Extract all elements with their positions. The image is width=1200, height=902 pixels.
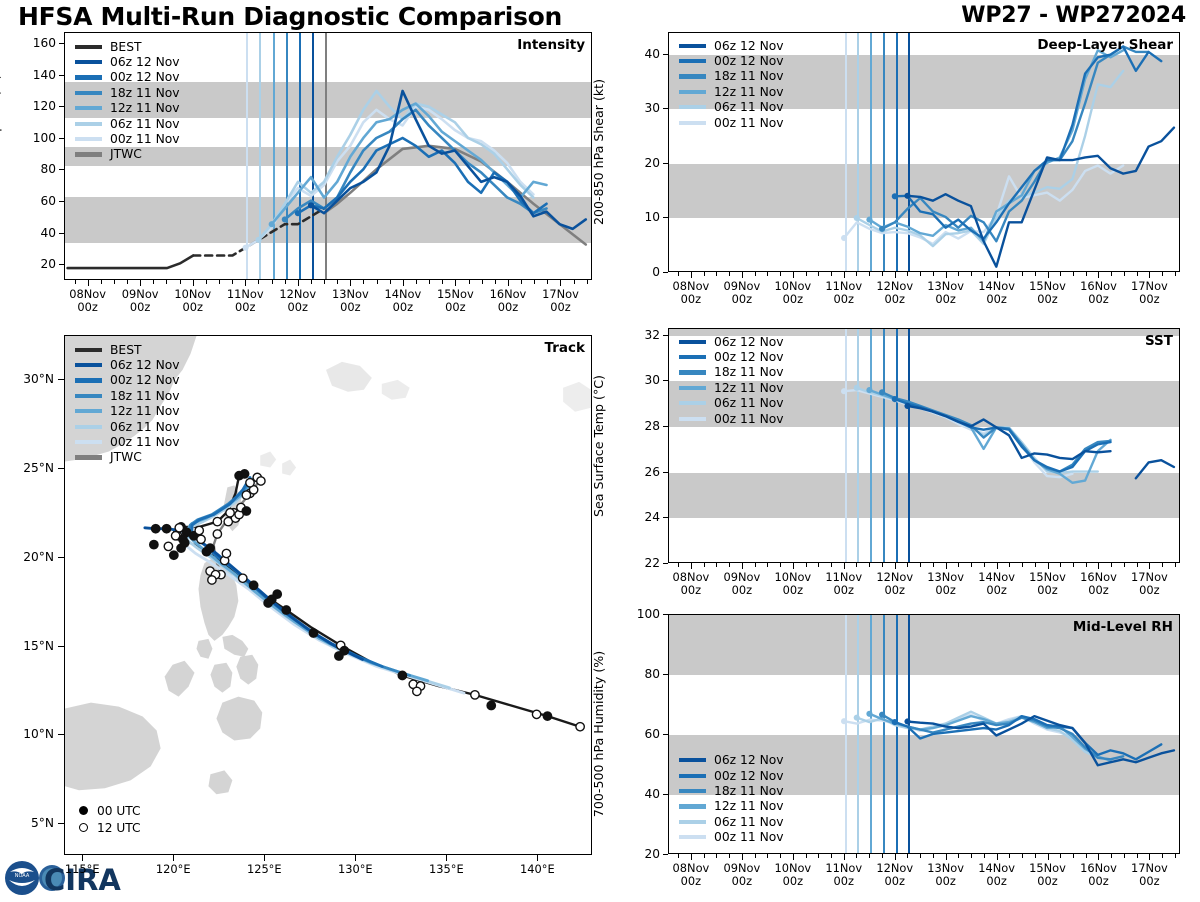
x-tick-label: 09Nov00z bbox=[723, 571, 760, 597]
rh-plot-area: Mid-Level RH 06z 12 Nov00z 12 Nov18z 11 … bbox=[668, 614, 1180, 854]
x-tick bbox=[1098, 854, 1099, 860]
legend-item-00z-11-nov[interactable]: 00z 11 Nov bbox=[75, 434, 180, 449]
track-time-marker bbox=[226, 509, 234, 517]
x-minor-tick bbox=[1124, 854, 1125, 858]
x-tick bbox=[946, 563, 947, 569]
legend-label: 06z 12 Nov bbox=[714, 336, 784, 348]
legend-label: 18z 11 Nov bbox=[110, 87, 180, 99]
y-axis-title: Sea Surface Temp (°C) bbox=[591, 375, 606, 517]
x-minor-tick bbox=[780, 272, 781, 276]
init-point-marker bbox=[841, 718, 847, 724]
x-minor-tick bbox=[1175, 272, 1176, 276]
y-tick-label: 20 bbox=[618, 847, 660, 861]
x-minor-tick bbox=[780, 563, 781, 567]
y-tick bbox=[663, 472, 668, 473]
legend-item-18z-11-nov[interactable]: 18z 11 Nov bbox=[679, 69, 784, 84]
x-tick-label: 14Nov00z bbox=[978, 280, 1015, 306]
legend-swatch-icon bbox=[75, 363, 102, 367]
y-tick bbox=[663, 163, 668, 164]
y-tick bbox=[59, 201, 64, 202]
legend-label: 00z 11 Nov bbox=[714, 413, 784, 425]
track-time-marker bbox=[150, 540, 158, 548]
x-minor-tick bbox=[1175, 854, 1176, 858]
y-tick bbox=[663, 854, 668, 855]
sst-legend: 06z 12 Nov00z 12 Nov18z 11 Nov12z 11 Nov… bbox=[679, 334, 784, 426]
storm-id-title: WP27 - WP272024 bbox=[961, 3, 1186, 28]
x-tick-label: 11Nov00z bbox=[227, 288, 264, 314]
x-minor-tick bbox=[219, 280, 220, 284]
legend-item-18z-11-nov[interactable]: 18z 11 Nov bbox=[75, 85, 180, 100]
svg-text:NOAA: NOAA bbox=[15, 873, 30, 879]
x-minor-tick bbox=[856, 854, 857, 858]
legend-item-18z-11-nov[interactable]: 18z 11 Nov bbox=[679, 783, 784, 798]
legend-swatch-icon bbox=[75, 425, 102, 429]
init-point-marker bbox=[282, 216, 288, 222]
legend-label: 00z 12 Nov bbox=[110, 374, 180, 386]
lat-tick bbox=[58, 646, 64, 647]
track-time-marker bbox=[195, 526, 203, 534]
x-minor-tick bbox=[1060, 563, 1061, 567]
y-tick-label: 60 bbox=[618, 727, 660, 741]
x-minor-tick bbox=[377, 280, 378, 284]
x-minor-tick bbox=[920, 272, 921, 276]
x-minor-tick bbox=[166, 280, 167, 284]
track-line bbox=[185, 479, 450, 688]
track-plot-area: Track BEST06z 12 Nov00z 12 Nov18z 11 Nov… bbox=[64, 335, 592, 855]
x-tick bbox=[997, 563, 998, 569]
x-minor-tick bbox=[818, 272, 819, 276]
legend-swatch-icon bbox=[75, 378, 102, 382]
legend-item-00z-12-nov[interactable]: 00z 12 Nov bbox=[679, 768, 784, 783]
legend-item-12z-11-nov[interactable]: 12z 11 Nov bbox=[75, 101, 180, 116]
y-tick-label: 22 bbox=[618, 556, 660, 570]
x-minor-tick bbox=[806, 563, 807, 567]
x-tick-label: 10Nov00z bbox=[774, 280, 811, 306]
x-tick bbox=[88, 280, 89, 286]
legend-swatch-icon bbox=[75, 348, 102, 352]
x-tick-label: 13Nov00z bbox=[332, 288, 369, 314]
x-minor-tick bbox=[971, 272, 972, 276]
x-minor-tick bbox=[704, 563, 705, 567]
x-tick-label: 13Nov00z bbox=[927, 862, 964, 888]
x-minor-tick bbox=[818, 854, 819, 858]
x-tick-label: 10Nov00z bbox=[774, 571, 811, 597]
init-point-marker bbox=[841, 388, 847, 394]
x-tick bbox=[946, 272, 947, 278]
x-minor-tick bbox=[958, 854, 959, 858]
legend-item-18z-11-nov[interactable]: 18z 11 Nov bbox=[679, 365, 784, 380]
x-minor-tick bbox=[755, 272, 756, 276]
y-tick bbox=[663, 380, 668, 381]
y-tick bbox=[663, 54, 668, 55]
x-tick bbox=[1048, 854, 1049, 860]
sst-panel-label: SST bbox=[1145, 333, 1173, 349]
x-tick bbox=[508, 280, 509, 286]
legend-swatch-icon bbox=[679, 835, 706, 839]
track-time-marker bbox=[264, 599, 272, 607]
x-tick bbox=[844, 854, 845, 860]
legend-swatch-icon bbox=[679, 90, 706, 94]
y-tick-label: 120 bbox=[14, 99, 56, 113]
x-minor-tick bbox=[984, 854, 985, 858]
track-time-marker bbox=[242, 507, 250, 515]
track-time-marker bbox=[162, 525, 170, 533]
legend-item-06z-12-nov[interactable]: 06z 12 Nov bbox=[75, 357, 180, 372]
x-minor-tick bbox=[933, 272, 934, 276]
legend-item-12z-11-nov[interactable]: 12z 11 Nov bbox=[679, 380, 784, 395]
x-tick bbox=[1098, 563, 1099, 569]
y-tick-label: 24 bbox=[618, 510, 660, 524]
legend-item-06z-11-nov[interactable]: 06z 11 Nov bbox=[75, 116, 180, 131]
x-minor-tick bbox=[363, 280, 364, 284]
legend-label: 00z 11 Nov bbox=[714, 831, 784, 843]
x-minor-tick bbox=[704, 272, 705, 276]
legend-swatch-icon bbox=[679, 105, 706, 109]
legend-swatch-icon bbox=[75, 106, 102, 110]
legend-item-06z-11-nov[interactable]: 06z 11 Nov bbox=[75, 419, 180, 434]
legend-item-06z-12-nov[interactable]: 06z 12 Nov bbox=[679, 38, 784, 53]
legend-swatch-icon bbox=[679, 758, 706, 762]
legend-item-06z-11-nov[interactable]: 06z 11 Nov bbox=[679, 814, 784, 829]
x-tick bbox=[140, 280, 141, 286]
x-minor-tick bbox=[337, 280, 338, 284]
legend-item-00z-11-nov[interactable]: 00z 11 Nov bbox=[679, 115, 784, 130]
x-minor-tick bbox=[907, 854, 908, 858]
y-tick bbox=[663, 217, 668, 218]
lat-tick-label: 20°N bbox=[2, 550, 54, 564]
legend-swatch-icon bbox=[75, 60, 102, 64]
x-minor-tick bbox=[324, 280, 325, 284]
open-dot-icon bbox=[79, 823, 88, 832]
y-axis-title: 10m Max Wind Speed (kt) bbox=[0, 74, 2, 238]
legend-label: 06z 11 Nov bbox=[714, 397, 784, 409]
legend-label: 06z 11 Nov bbox=[110, 118, 180, 130]
rh-panel: Mid-Level RH 06z 12 Nov00z 12 Nov18z 11 … bbox=[668, 614, 1180, 854]
x-minor-tick bbox=[678, 563, 679, 567]
x-minor-tick bbox=[1111, 272, 1112, 276]
x-minor-tick bbox=[1137, 563, 1138, 567]
track-time-marker bbox=[576, 723, 584, 731]
legend-label: 06z 11 Nov bbox=[714, 101, 784, 113]
x-minor-tick bbox=[258, 280, 259, 284]
init-point-marker bbox=[904, 193, 910, 199]
x-minor-tick bbox=[574, 280, 575, 284]
x-minor-tick bbox=[1073, 563, 1074, 567]
legend-swatch-icon bbox=[679, 789, 706, 793]
init-point-marker bbox=[854, 715, 860, 721]
legend-label: 00z 12 Nov bbox=[714, 351, 784, 363]
legend-item-12z-11-nov[interactable]: 12z 11 Nov bbox=[679, 799, 784, 814]
x-tick-label: 08Nov00z bbox=[673, 862, 710, 888]
init-point-marker bbox=[866, 387, 872, 393]
legend-swatch-icon bbox=[679, 340, 706, 344]
y-axis-title: 200-850 hPa Shear (kt) bbox=[591, 79, 606, 225]
y-tick-label: 26 bbox=[618, 465, 660, 479]
track-time-marker bbox=[543, 712, 551, 720]
y-tick bbox=[663, 674, 668, 675]
x-tick bbox=[997, 272, 998, 278]
y-tick bbox=[59, 106, 64, 107]
legend-swatch-icon bbox=[679, 401, 706, 405]
legend-swatch-icon bbox=[75, 75, 102, 79]
x-minor-tick bbox=[907, 272, 908, 276]
x-tick-label: 16Nov00z bbox=[1080, 571, 1117, 597]
track-marker-legend: 00 UTC12 UTC bbox=[79, 802, 141, 836]
x-minor-tick bbox=[882, 272, 883, 276]
track-time-marker bbox=[208, 576, 216, 584]
legend-item-00z-11-nov[interactable]: 00z 11 Nov bbox=[679, 830, 784, 845]
legend-item-best[interactable]: BEST bbox=[75, 39, 180, 54]
legend-item-18z-11-nov[interactable]: 18z 11 Nov bbox=[75, 388, 180, 403]
x-minor-tick bbox=[780, 854, 781, 858]
x-minor-tick bbox=[1035, 854, 1036, 858]
legend-item-12z-11-nov[interactable]: 12z 11 Nov bbox=[679, 84, 784, 99]
lat-tick-label: 10°N bbox=[2, 727, 54, 741]
x-tick bbox=[844, 563, 845, 569]
x-minor-tick bbox=[206, 280, 207, 284]
legend-item-06z-11-nov[interactable]: 06z 11 Nov bbox=[679, 100, 784, 115]
track-time-marker bbox=[413, 687, 421, 695]
x-tick-label: 12Nov00z bbox=[876, 862, 913, 888]
x-minor-tick bbox=[869, 563, 870, 567]
track-time-marker bbox=[164, 542, 172, 550]
x-tick bbox=[793, 272, 794, 278]
legend-label: 00z 11 Nov bbox=[110, 133, 180, 145]
init-point-marker bbox=[854, 215, 860, 221]
legend-item-jtwc[interactable]: JTWC bbox=[75, 450, 180, 465]
legend-item-00z-12-nov[interactable]: 00z 12 Nov bbox=[75, 373, 180, 388]
x-minor-tick bbox=[958, 563, 959, 567]
x-tick bbox=[1149, 272, 1150, 278]
y-tick bbox=[663, 563, 668, 564]
intensity-legend: BEST06z 12 Nov00z 12 Nov18z 11 Nov12z 11… bbox=[75, 39, 180, 162]
legend-swatch-icon bbox=[75, 137, 102, 141]
legend-swatch-icon bbox=[679, 121, 706, 125]
x-tick-label: 12Nov00z bbox=[876, 280, 913, 306]
x-minor-tick bbox=[1162, 563, 1163, 567]
legend-item-06z-12-nov[interactable]: 06z 12 Nov bbox=[75, 54, 180, 69]
marker-legend-item: 12 UTC bbox=[79, 819, 141, 836]
legend-item-00z-12-nov[interactable]: 00z 12 Nov bbox=[679, 53, 784, 68]
y-tick-label: 28 bbox=[618, 419, 660, 433]
legend-label: 18z 11 Nov bbox=[714, 785, 784, 797]
x-minor-tick bbox=[716, 272, 717, 276]
lat-tick bbox=[58, 379, 64, 380]
track-time-marker bbox=[242, 491, 250, 499]
lon-tick-label: 125°E bbox=[247, 863, 282, 876]
lat-tick bbox=[58, 557, 64, 558]
track-time-marker bbox=[213, 530, 221, 538]
legend-item-jtwc[interactable]: JTWC bbox=[75, 147, 180, 162]
legend-label: BEST bbox=[110, 344, 142, 356]
y-tick-label: 100 bbox=[618, 607, 660, 621]
y-tick-label: 160 bbox=[14, 36, 56, 50]
x-minor-tick bbox=[311, 280, 312, 284]
x-tick bbox=[997, 854, 998, 860]
legend-item-00z-12-nov[interactable]: 00z 12 Nov bbox=[679, 349, 784, 364]
track-time-marker bbox=[257, 477, 265, 485]
x-minor-tick bbox=[101, 280, 102, 284]
sst-plot-area: SST 06z 12 Nov00z 12 Nov18z 11 Nov12z 11… bbox=[668, 328, 1180, 563]
x-minor-tick bbox=[180, 280, 181, 284]
x-minor-tick bbox=[1022, 854, 1023, 858]
x-tick-label: 17Nov00z bbox=[1131, 571, 1168, 597]
x-tick-label: 13Nov00z bbox=[927, 571, 964, 597]
x-minor-tick bbox=[153, 280, 154, 284]
x-tick-label: 17Nov00z bbox=[1131, 862, 1168, 888]
legend-item-best[interactable]: BEST bbox=[75, 342, 180, 357]
track-time-marker bbox=[206, 544, 214, 552]
x-minor-tick bbox=[1060, 854, 1061, 858]
track-time-marker bbox=[309, 629, 317, 637]
legend-swatch-icon bbox=[679, 417, 706, 421]
marker-legend-item: 00 UTC bbox=[79, 802, 141, 819]
legend-label: 00z 11 Nov bbox=[714, 117, 784, 129]
legend-item-06z-12-nov[interactable]: 06z 12 Nov bbox=[679, 334, 784, 349]
x-tick-label: 12Nov00z bbox=[279, 288, 316, 314]
legend-item-12z-11-nov[interactable]: 12z 11 Nov bbox=[75, 404, 180, 419]
y-tick-label: 60 bbox=[14, 194, 56, 208]
track-time-marker bbox=[152, 525, 160, 533]
series-line bbox=[895, 716, 1161, 759]
lon-tick-label: 130°E bbox=[338, 863, 373, 876]
y-tick bbox=[59, 264, 64, 265]
legend-item-06z-11-nov[interactable]: 06z 11 Nov bbox=[679, 396, 784, 411]
y-tick-label: 30 bbox=[618, 101, 660, 115]
track-time-marker bbox=[213, 517, 221, 525]
legend-swatch-icon bbox=[75, 122, 102, 126]
legend-label: 00z 12 Nov bbox=[110, 71, 180, 83]
page-title: HFSA Multi-Run Diagnostic Comparison bbox=[18, 2, 562, 31]
x-tick-label: 15Nov00z bbox=[1029, 280, 1066, 306]
init-point-marker bbox=[269, 221, 275, 227]
legend-label: 12z 11 Nov bbox=[714, 86, 784, 98]
x-tick-label: 08Nov00z bbox=[673, 571, 710, 597]
init-point-marker bbox=[892, 719, 898, 725]
x-minor-tick bbox=[390, 280, 391, 284]
x-minor-tick bbox=[1073, 272, 1074, 276]
rh-legend: 06z 12 Nov00z 12 Nov18z 11 Nov12z 11 Nov… bbox=[679, 753, 784, 845]
x-minor-tick bbox=[1086, 272, 1087, 276]
y-tick-label: 80 bbox=[14, 162, 56, 176]
legend-item-00z-11-nov[interactable]: 00z 11 Nov bbox=[679, 411, 784, 426]
legend-label: 12z 11 Nov bbox=[110, 405, 180, 417]
legend-swatch-icon bbox=[679, 355, 706, 359]
y-tick-label: 0 bbox=[618, 265, 660, 279]
x-tick bbox=[691, 563, 692, 569]
lon-tick bbox=[537, 855, 538, 861]
x-tick bbox=[946, 854, 947, 860]
lat-tick-label: 15°N bbox=[2, 639, 54, 653]
track-time-marker bbox=[532, 710, 540, 718]
legend-label: BEST bbox=[110, 41, 142, 53]
y-tick bbox=[663, 108, 668, 109]
x-minor-tick bbox=[755, 563, 756, 567]
x-minor-tick bbox=[933, 563, 934, 567]
x-tick bbox=[895, 563, 896, 569]
x-minor-tick bbox=[1111, 563, 1112, 567]
x-tick-label: 17Nov00z bbox=[542, 288, 579, 314]
y-tick bbox=[59, 43, 64, 44]
x-minor-tick bbox=[521, 280, 522, 284]
init-point-marker bbox=[866, 711, 872, 717]
x-minor-tick bbox=[1009, 854, 1010, 858]
intensity-panel-label: Intensity bbox=[517, 37, 585, 53]
x-minor-tick bbox=[1137, 854, 1138, 858]
init-point-marker bbox=[892, 193, 898, 199]
x-minor-tick bbox=[729, 272, 730, 276]
x-minor-tick bbox=[429, 280, 430, 284]
y-tick bbox=[663, 272, 668, 273]
x-minor-tick bbox=[767, 854, 768, 858]
x-tick-label: 11Nov00z bbox=[825, 280, 862, 306]
x-minor-tick bbox=[547, 280, 548, 284]
legend-label: 06z 12 Nov bbox=[714, 754, 784, 766]
init-point-marker bbox=[308, 202, 314, 208]
x-minor-tick bbox=[806, 854, 807, 858]
legend-swatch-icon bbox=[679, 370, 706, 374]
legend-item-00z-11-nov[interactable]: 00z 11 Nov bbox=[75, 131, 180, 146]
init-point-marker bbox=[854, 385, 860, 391]
y-tick bbox=[59, 138, 64, 139]
legend-swatch-icon bbox=[75, 91, 102, 95]
init-point-marker bbox=[841, 235, 847, 241]
track-time-marker bbox=[181, 539, 189, 547]
sst-panel: SST 06z 12 Nov00z 12 Nov18z 11 Nov12z 11… bbox=[668, 328, 1180, 563]
x-minor-tick bbox=[1009, 563, 1010, 567]
x-minor-tick bbox=[831, 563, 832, 567]
series-line bbox=[844, 166, 1123, 244]
init-point-marker bbox=[866, 217, 872, 223]
x-minor-tick bbox=[1162, 854, 1163, 858]
x-tick bbox=[742, 272, 743, 278]
legend-item-00z-12-nov[interactable]: 00z 12 Nov bbox=[75, 70, 180, 85]
x-tick-label: 12Nov00z bbox=[876, 571, 913, 597]
x-minor-tick bbox=[1137, 272, 1138, 276]
x-minor-tick bbox=[1162, 272, 1163, 276]
x-tick bbox=[742, 854, 743, 860]
legend-swatch-icon bbox=[679, 804, 706, 808]
y-tick bbox=[663, 614, 668, 615]
series-line bbox=[193, 208, 324, 255]
track-time-marker bbox=[249, 581, 257, 589]
lat-tick-label: 25°N bbox=[2, 461, 54, 475]
x-minor-tick bbox=[933, 854, 934, 858]
x-tick bbox=[193, 280, 194, 286]
intensity-panel: Intensity BEST06z 12 Nov00z 12 Nov18z 11… bbox=[64, 32, 592, 280]
legend-label: 06z 12 Nov bbox=[110, 56, 180, 68]
y-tick bbox=[663, 426, 668, 427]
marker-legend-label: 00 UTC bbox=[97, 804, 141, 818]
x-tick bbox=[560, 280, 561, 286]
x-minor-tick bbox=[729, 854, 730, 858]
x-minor-tick bbox=[416, 280, 417, 284]
legend-label: 06z 11 Nov bbox=[110, 421, 180, 433]
x-tick-label: 16Nov00z bbox=[1080, 862, 1117, 888]
legend-swatch-icon bbox=[679, 44, 706, 48]
legend-item-06z-12-nov[interactable]: 06z 12 Nov bbox=[679, 753, 784, 768]
x-tick bbox=[1048, 272, 1049, 278]
x-minor-tick bbox=[869, 272, 870, 276]
y-tick-label: 10 bbox=[618, 210, 660, 224]
series-line bbox=[908, 406, 1111, 459]
x-minor-tick bbox=[272, 280, 273, 284]
track-time-marker bbox=[246, 479, 254, 487]
x-minor-tick bbox=[869, 854, 870, 858]
legend-label: 12z 11 Nov bbox=[714, 800, 784, 812]
y-axis-title: 700-500 hPa Humidity (%) bbox=[591, 651, 606, 817]
x-minor-tick bbox=[831, 854, 832, 858]
